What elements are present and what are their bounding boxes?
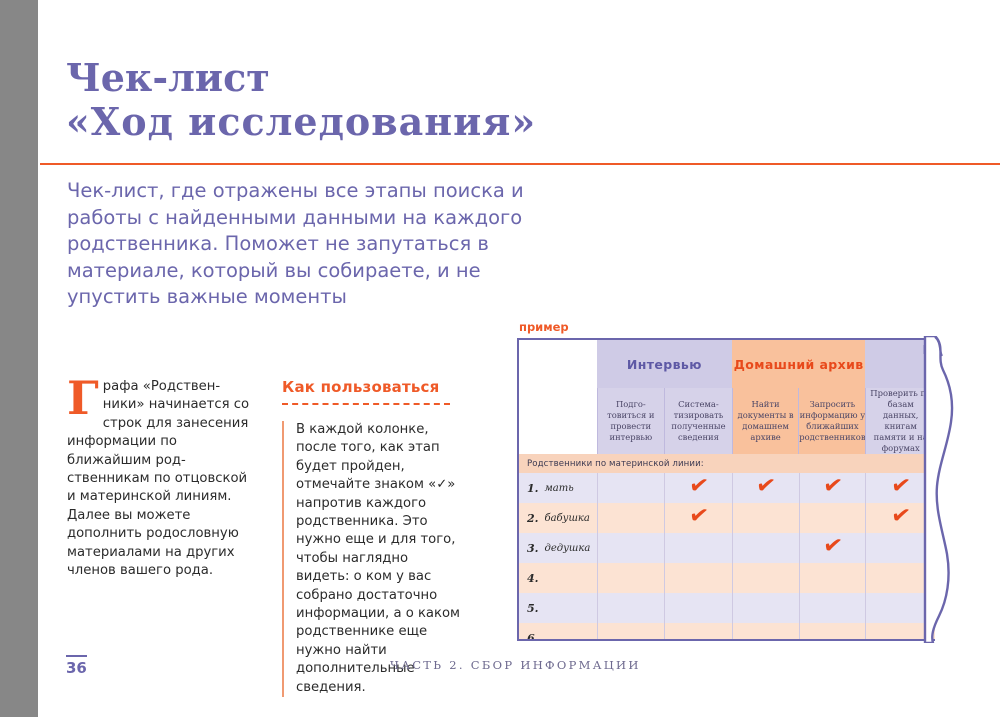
table-section-header: Родственники по материнской линии: [519,454,935,473]
checkbox-cell[interactable] [597,503,665,533]
checkbox-cell[interactable] [597,473,665,503]
drop-cap: Г [67,380,99,416]
checkbox-cell[interactable] [597,623,665,641]
page-canvas: Чек-лист «Ход исследования» Чек-лист, гд… [0,0,1000,717]
page-title-line2: «Ход исследования» [66,100,766,144]
lead-paragraph: Чек-лист, где отражены все этапы поиска … [67,178,557,311]
checklist-table: Интервью Домашний архив И Подго­товиться… [517,338,935,641]
page-title-line1: Чек-лист [66,55,270,100]
check-mark-icon: ✔ [890,503,912,528]
how-to-use-heading: Как пользоваться [282,378,462,396]
table-row[interactable]: 5. [519,593,935,623]
column-middle: Как пользоваться В каждой колонке, после… [282,378,462,697]
checkbox-cell[interactable] [799,623,866,641]
table-subheader-row: Подго­товиться и провести интервью Систе… [519,388,935,454]
row-name-cell[interactable]: 4. [519,563,597,593]
row-number: 5. [527,602,538,615]
check-mark-icon: ✔ [890,473,912,498]
checkbox-cell[interactable] [799,503,866,533]
checkbox-cell[interactable] [799,593,866,623]
table-row[interactable]: 6. [519,623,935,641]
checkbox-cell[interactable] [732,593,799,623]
group-header-interview: Интервью [597,340,732,388]
dashed-divider [282,403,450,405]
subheader-cell-4: Запросить информацию у ближайших родстве… [798,388,865,454]
table-row[interactable]: 4. [519,563,935,593]
torn-edge-wave [923,336,963,643]
check-mark-icon: ✔ [821,533,843,558]
row-relative-name: дедушка [544,543,590,554]
table-row[interactable]: 2.бабушка✔✔ [519,503,935,533]
group-header-home-archive: Домашний архив [732,340,865,388]
checkbox-cell[interactable] [597,563,665,593]
checkbox-cell[interactable] [597,593,665,623]
subheader-blank-cell [519,388,597,454]
group-header-blank-cell [519,340,597,388]
subheader-cell-1: Подго­товиться и провести интервью [597,388,665,454]
subheader-cell-3: Найти документы в домашнем архиве [732,388,799,454]
row-name-cell[interactable]: 2.бабушка [519,503,597,533]
page-title: Чек-лист «Ход исследования» [66,56,766,144]
check-mark-icon: ✔ [821,473,843,498]
checkbox-cell[interactable] [799,563,866,593]
checkbox-cell[interactable]: ✔ [732,473,799,503]
checkbox-cell[interactable]: ✔ [799,533,866,563]
table-row[interactable]: 3.дедушка✔ [519,533,935,563]
row-name-cell[interactable]: 5. [519,593,597,623]
row-name-cell[interactable]: 6. [519,623,597,641]
check-mark-icon: ✔ [755,473,777,498]
checkbox-cell[interactable] [597,533,665,563]
checklist-table-wrapper: Интервью Домашний архив И Подго­товиться… [517,338,941,643]
row-name-cell[interactable]: 1.мать [519,473,597,503]
footer-section-label: ЧАСТЬ 2. СБОР ИНФОРМАЦИИ [390,658,641,672]
subheader-cell-2: Система­тизировать полученные сведения [664,388,732,454]
check-mark-icon: ✔ [688,473,710,498]
table-group-header-row: Интервью Домашний архив И [519,340,935,388]
how-to-use-text-part1: В каждой колонке, после того, как этап б… [296,422,440,492]
header-divider-rule [40,163,1000,165]
checkbox-cell[interactable]: ✔ [664,503,732,533]
row-number: 6. [527,632,538,642]
row-relative-name: мать [544,483,573,494]
checkbox-cell[interactable] [664,623,732,641]
left-gray-spine [0,0,38,717]
checkbox-cell[interactable] [664,563,732,593]
checkbox-cell[interactable] [664,593,732,623]
row-number: 1. [527,482,538,495]
inline-check-glyph: ✓ [436,477,447,492]
checkbox-cell[interactable] [732,533,799,563]
row-number: 3. [527,542,538,555]
row-number: 2. [527,512,538,525]
checkbox-cell[interactable] [732,623,799,641]
row-name-cell[interactable]: 3.дедушка [519,533,597,563]
column-left-body: Графа «Родствен­ники» начинается со стро… [67,378,249,580]
checkbox-cell[interactable] [732,503,799,533]
table-row[interactable]: 1.мать✔✔✔✔ [519,473,935,503]
checkbox-cell[interactable] [732,563,799,593]
page-number: 36 [66,655,87,677]
checkbox-cell[interactable]: ✔ [799,473,866,503]
row-number: 4. [527,572,538,585]
check-mark-icon: ✔ [688,503,710,528]
checkbox-cell[interactable] [664,533,732,563]
row-relative-name: бабушка [544,513,589,524]
how-to-use-text: В каждой колонке, после того, как этап б… [282,421,462,697]
example-label: пример [519,320,569,334]
table-body: Родственники по материнской линии:1.мать… [519,454,935,641]
checkbox-cell[interactable]: ✔ [664,473,732,503]
